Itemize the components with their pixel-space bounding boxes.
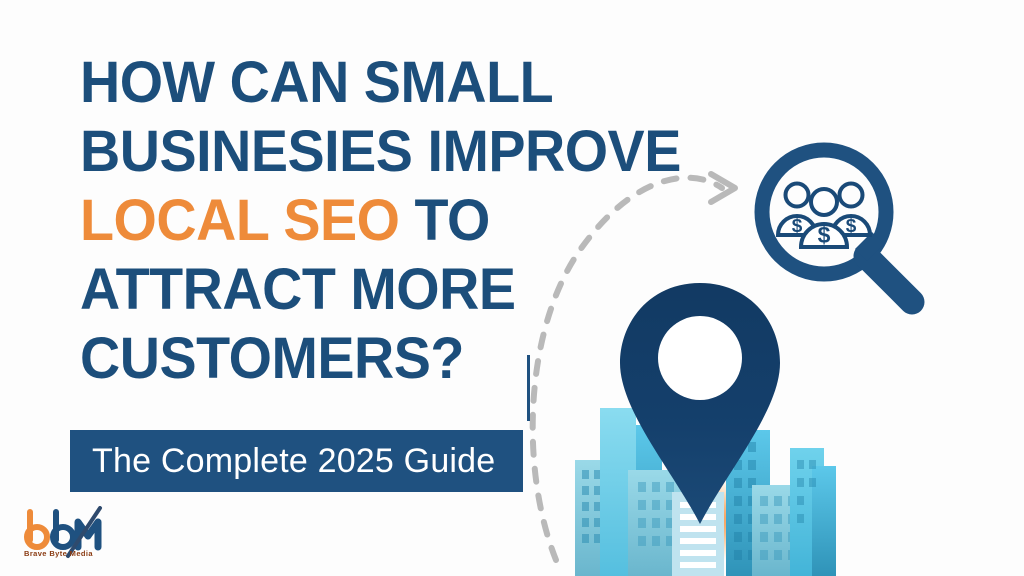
logo-letter-b-orange: [27, 512, 47, 547]
logo-tagline: Brave Byte Media: [24, 549, 93, 558]
subtitle-badge: The Complete 2025 Guide: [70, 430, 523, 492]
logo-letter-b-navy: [53, 512, 73, 547]
headline-line-2: BUSINESIES IMPROVE: [80, 117, 694, 186]
headline-line-1: HOW CAN SMALL: [80, 48, 694, 117]
headline-line-2-text: BUSINESIES IMPROVE: [80, 119, 681, 184]
vertical-accent-rule: [527, 355, 530, 421]
people-group-icon: $ $ $: [778, 184, 870, 249]
brand-logo[interactable]: Brave Byte Media: [16, 506, 116, 562]
subtitle-text: The Complete 2025 Guide: [70, 442, 495, 481]
headline: HOW CAN SMALL BUSINESIES IMPROVE LOCAL S…: [80, 48, 720, 393]
magnifier-customers-icon: $ $ $: [762, 150, 912, 302]
headline-accent-local-seo: LOCAL SEO: [80, 188, 399, 253]
headline-line-5: CUSTOMERS?: [80, 324, 694, 393]
headline-line-1-text: HOW CAN SMALL: [80, 50, 553, 115]
headline-line-4-text: ATTRACT MORE: [80, 257, 515, 322]
orange-glow: [608, 478, 792, 562]
headline-line-5-text: CUSTOMERS?: [80, 326, 464, 391]
poster-canvas: $ $ $: [0, 0, 1024, 576]
headline-line-3: LOCAL SEO TO: [80, 186, 694, 255]
headline-line-4: ATTRACT MORE: [80, 255, 694, 324]
svg-text:$: $: [846, 216, 857, 237]
headline-line-3-post: TO: [399, 188, 489, 253]
svg-text:$: $: [818, 222, 831, 248]
cityscape-illustration: [575, 408, 836, 576]
svg-text:$: $: [792, 216, 803, 237]
